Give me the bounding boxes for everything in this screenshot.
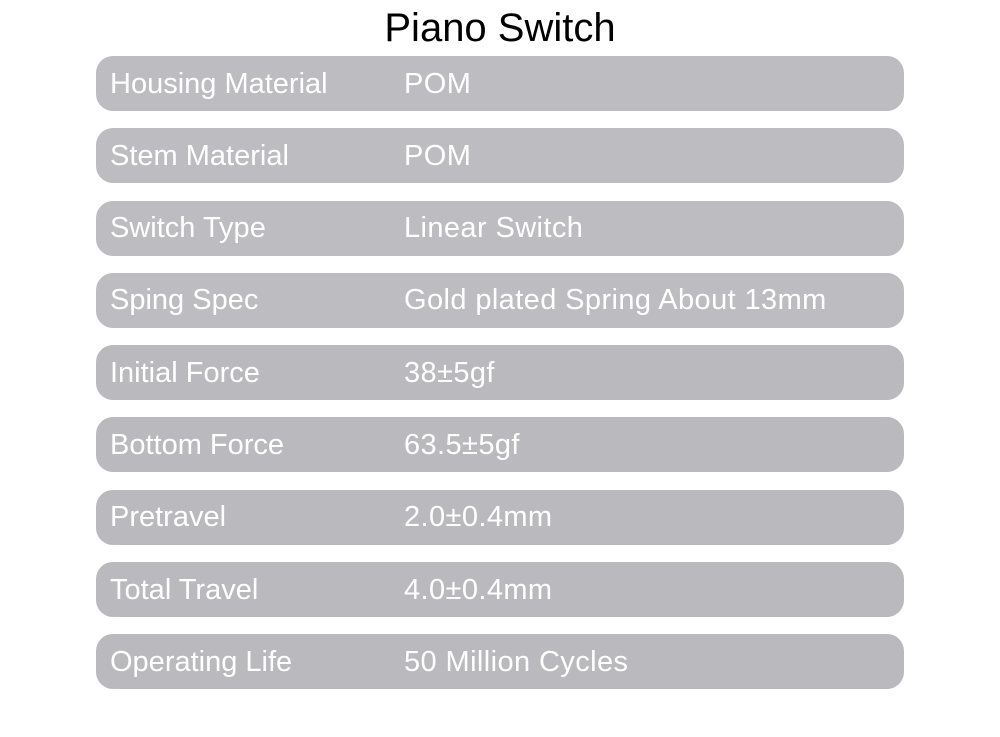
spec-label-operating-life: Operating Life <box>96 645 404 679</box>
spec-value-bottom-force: 63.5±5gf <box>404 428 904 462</box>
table-row: Total Travel 4.0±0.4mm <box>96 562 904 617</box>
specification-table: Housing Material POM Stem Material POM S… <box>96 56 904 707</box>
table-row: Bottom Force 63.5±5gf <box>96 417 904 472</box>
table-row: Initial Force 38±5gf <box>96 345 904 400</box>
table-row: Pretravel 2.0±0.4mm <box>96 490 904 545</box>
table-row: Housing Material POM <box>96 56 904 111</box>
spec-label-switch-type: Switch Type <box>96 211 404 245</box>
table-row: Sping Spec Gold plated Spring About 13mm <box>96 273 904 328</box>
spec-value-housing-material: POM <box>404 67 904 101</box>
spec-label-pretravel: Pretravel <box>96 500 404 534</box>
spec-value-total-travel: 4.0±0.4mm <box>404 573 904 607</box>
spec-label-initial-force: Initial Force <box>96 356 404 390</box>
table-row: Switch Type Linear Switch <box>96 201 904 256</box>
spec-value-initial-force: 38±5gf <box>404 356 904 390</box>
spec-label-total-travel: Total Travel <box>96 573 404 607</box>
table-row: Operating Life 50 Million Cycles <box>96 634 904 689</box>
spec-value-operating-life: 50 Million Cycles <box>404 645 904 679</box>
page-title: Piano Switch <box>0 4 1000 52</box>
spec-label-sping-spec: Sping Spec <box>96 283 404 317</box>
spec-label-housing-material: Housing Material <box>96 67 404 101</box>
spec-value-switch-type: Linear Switch <box>404 211 904 245</box>
spec-label-stem-material: Stem Material <box>96 139 404 173</box>
spec-sheet-page: Piano Switch Housing Material POM Stem M… <box>0 0 1000 737</box>
table-row: Stem Material POM <box>96 128 904 183</box>
spec-label-bottom-force: Bottom Force <box>96 428 404 462</box>
spec-value-stem-material: POM <box>404 139 904 173</box>
spec-value-sping-spec: Gold plated Spring About 13mm <box>404 283 904 317</box>
spec-value-pretravel: 2.0±0.4mm <box>404 500 904 534</box>
